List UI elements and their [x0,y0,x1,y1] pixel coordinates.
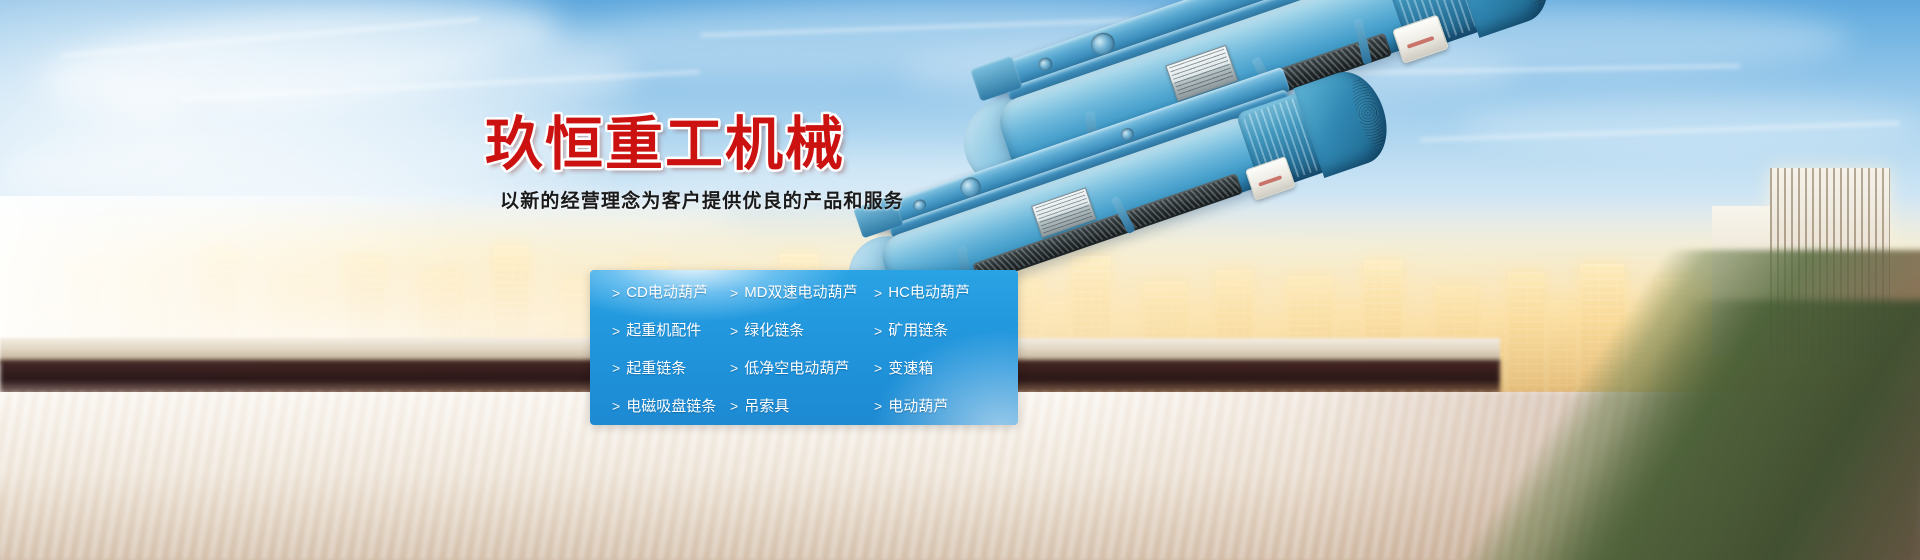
chevron-right-icon: > [612,286,620,300]
product-link-label: 低净空电动葫芦 [744,361,849,376]
product-links-grid: >CD电动葫芦>MD双速电动葫芦>HC电动葫芦>起重机配件>绿化链条>矿用链条>… [590,270,1018,425]
chevron-right-icon: > [874,399,882,413]
product-link[interactable]: >MD双速电动葫芦 [730,285,874,300]
chevron-right-icon: > [874,324,882,338]
product-link-label: MD双速电动葫芦 [744,285,857,300]
product-link[interactable]: >起重链条 [612,361,730,376]
product-link[interactable]: >HC电动葫芦 [874,285,1018,300]
product-link-label: 吊索具 [744,399,789,414]
product-link-label: 电磁吸盘链条 [626,399,716,414]
product-link-label: 起重机配件 [626,323,701,338]
chevron-right-icon: > [612,399,620,413]
product-link[interactable]: >绿化链条 [730,323,874,338]
chevron-right-icon: > [730,324,738,338]
product-links-panel: >CD电动葫芦>MD双速电动葫芦>HC电动葫芦>起重机配件>绿化链条>矿用链条>… [590,270,1018,425]
product-link-label: HC电动葫芦 [888,285,970,300]
chevron-right-icon: > [730,399,738,413]
product-link-label: 电动葫芦 [888,399,948,414]
product-link[interactable]: >起重机配件 [612,323,730,338]
product-link-label: 矿用链条 [888,323,948,338]
product-link-label: 绿化链条 [744,323,804,338]
page-title: 玖恒重工机械 [485,116,845,174]
product-link-label: CD电动葫芦 [626,285,708,300]
product-link[interactable]: >变速箱 [874,361,1018,376]
product-link[interactable]: >吊索具 [730,399,874,414]
chevron-right-icon: > [612,361,620,375]
product-link[interactable]: >电磁吸盘链条 [612,399,730,414]
product-link-label: 变速箱 [888,361,933,376]
chevron-right-icon: > [730,286,738,300]
product-link[interactable]: >CD电动葫芦 [612,285,730,300]
chevron-right-icon: > [874,286,882,300]
chevron-right-icon: > [874,361,882,375]
product-link[interactable]: >矿用链条 [874,323,1018,338]
chevron-right-icon: > [612,324,620,338]
product-link[interactable]: >电动葫芦 [874,399,1018,414]
electric-hoist-group [860,60,1920,420]
chevron-right-icon: > [730,361,738,375]
product-link[interactable]: >低净空电动葫芦 [730,361,874,376]
page-subtitle: 以新的经营理念为客户提供优良的产品和服务 [500,186,904,213]
product-link-label: 起重链条 [626,361,686,376]
hero-banner: 玖恒重工机械 以新的经营理念为客户提供优良的产品和服务 >CD电动葫芦>MD双速… [0,0,1920,560]
